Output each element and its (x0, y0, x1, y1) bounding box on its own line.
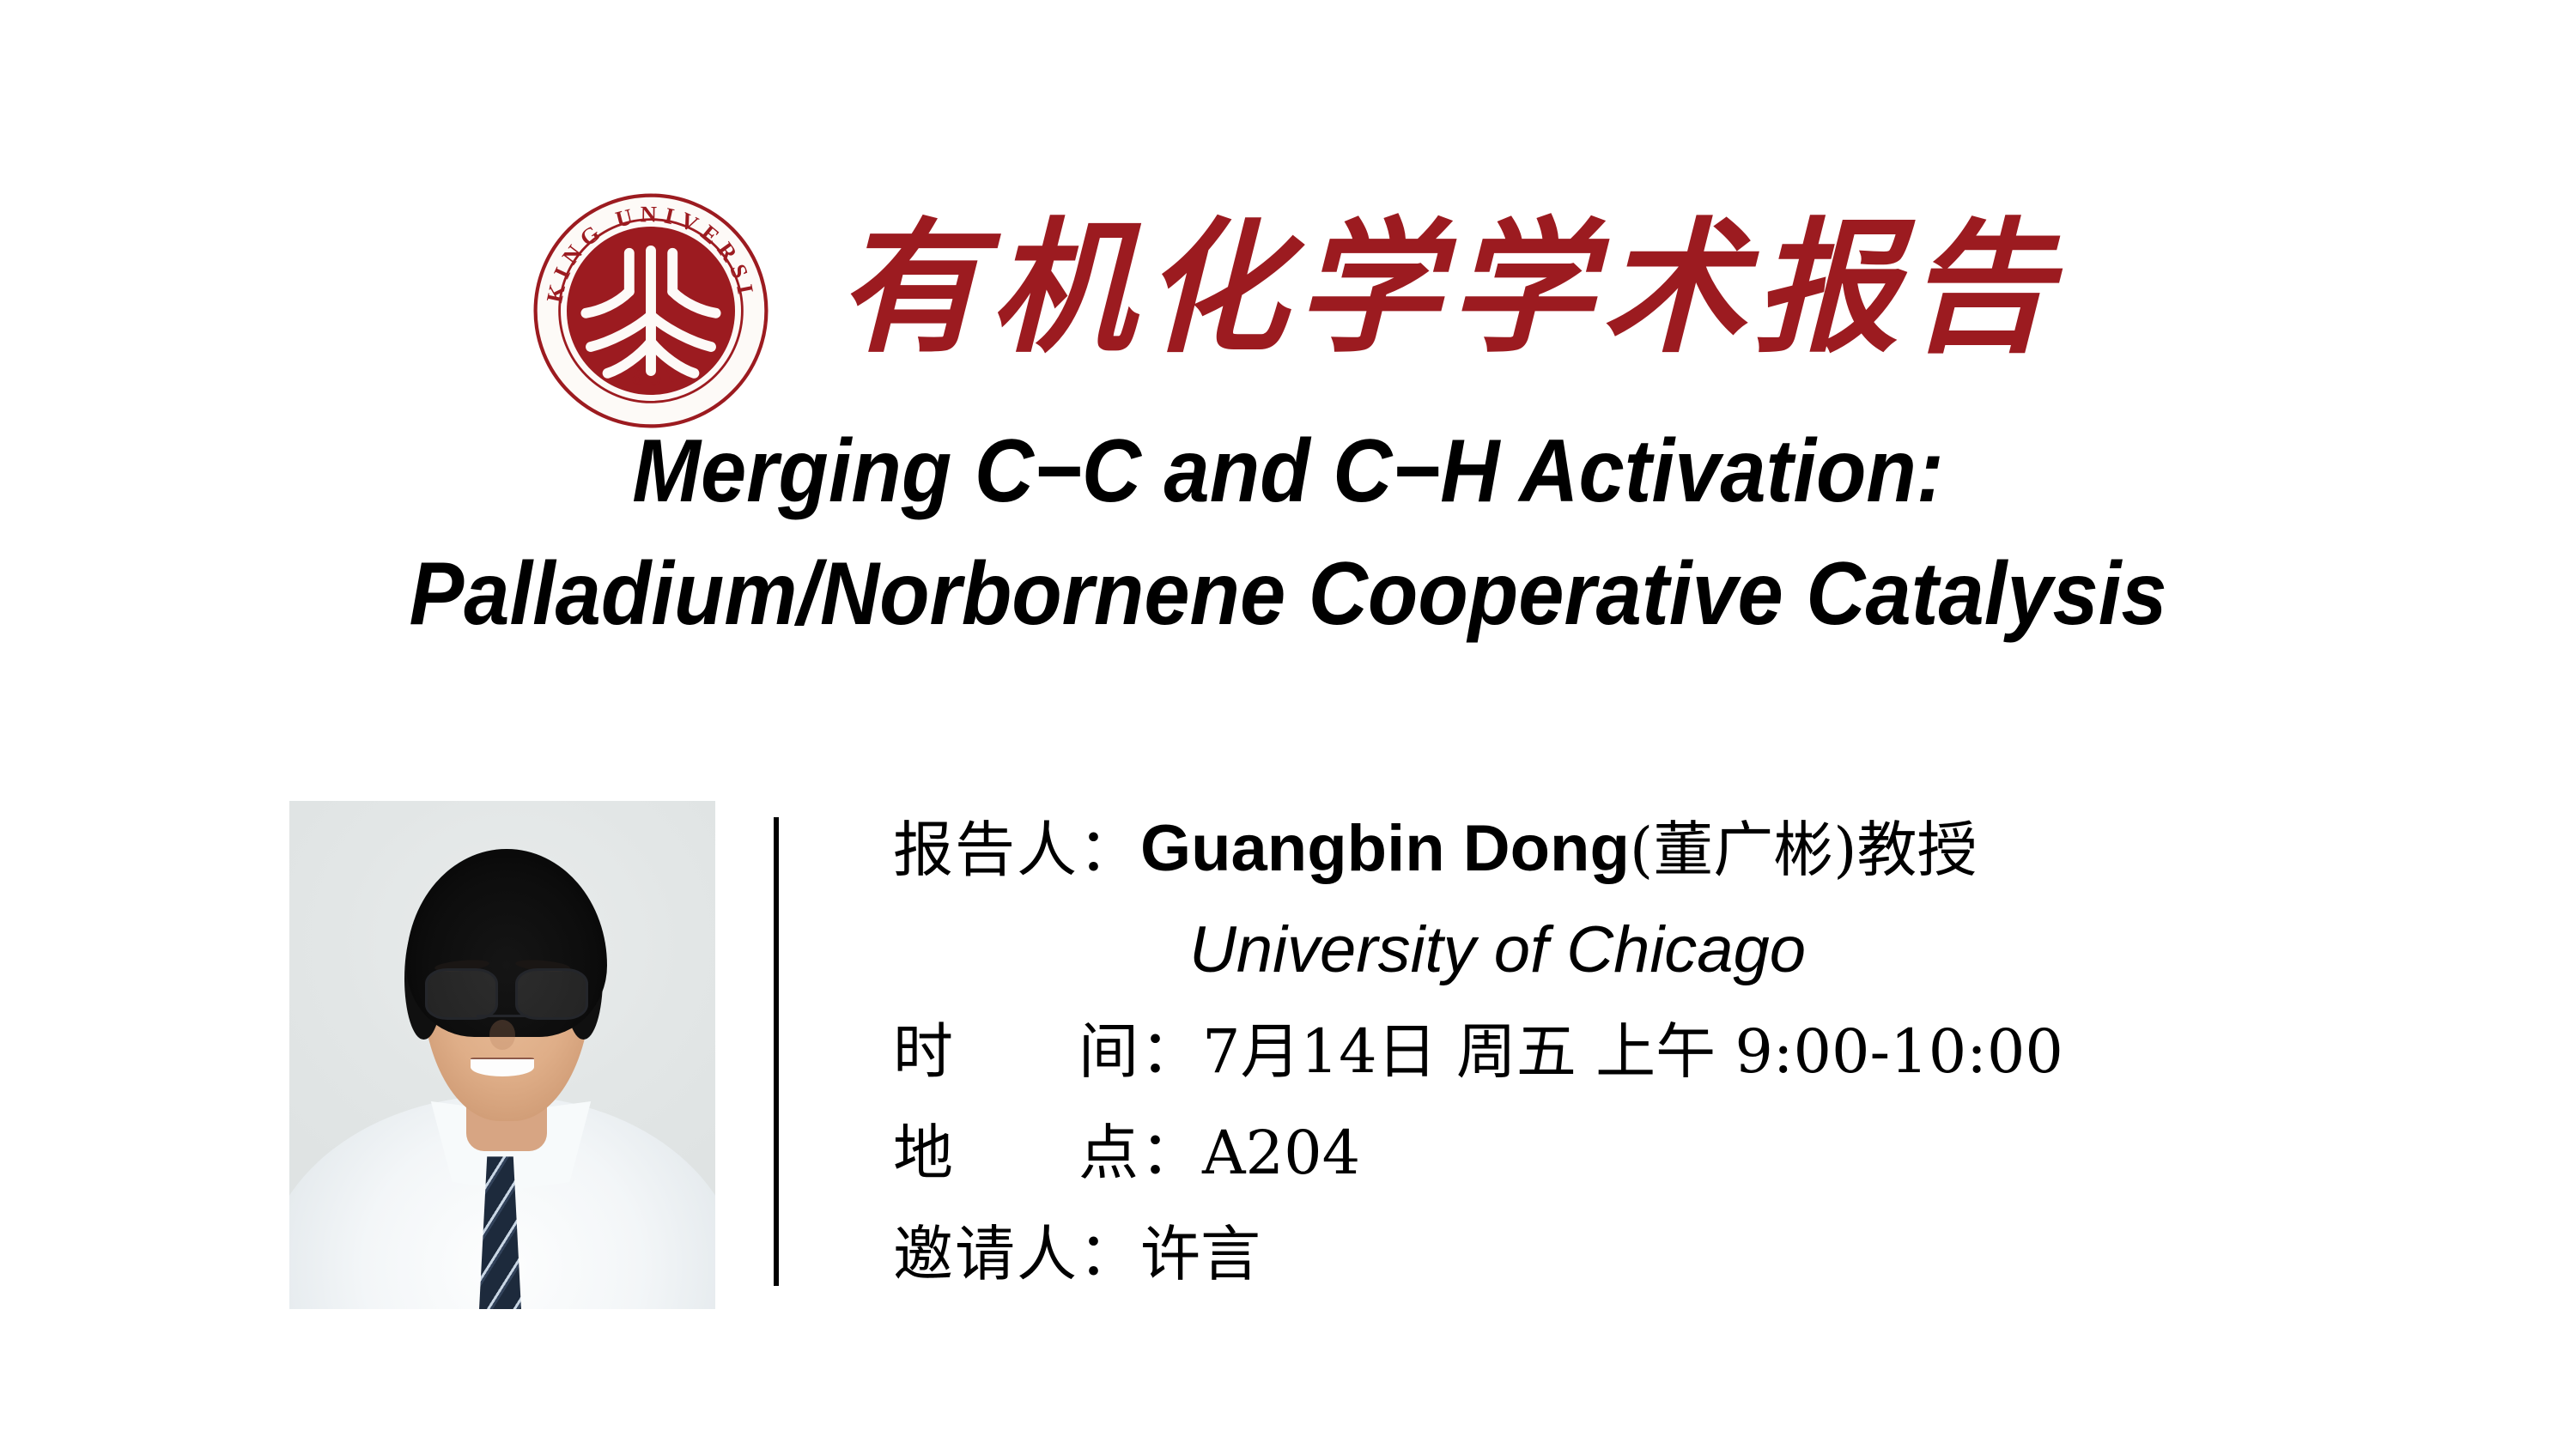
seminar-details: 报告人：Guangbin Dong(董广彬)教授 University of C… (893, 798, 2524, 1305)
speaker-honorific: 教授 (1857, 815, 1978, 885)
lecture-title-line-2: Palladium/Norbornene Cooperative Catalys… (103, 533, 2473, 656)
time-label: 时 间： (893, 1016, 1202, 1087)
portrait-lens-right (515, 968, 588, 1019)
peking-university-seal-icon: PEKING UNIVERSITY 1898 (531, 191, 771, 431)
venue-label: 地 点： (893, 1118, 1202, 1188)
vertical-divider (774, 817, 779, 1286)
detail-row-venue: 地 点：A204 (893, 1102, 2524, 1203)
speaker-name-cn: (董广彬) (1630, 815, 1857, 885)
portrait-glasses-bridge (477, 1015, 528, 1017)
seminar-poster: PEKING UNIVERSITY 1898 有机化学学术 (0, 0, 2576, 1449)
host-label: 邀请人： (893, 1219, 1140, 1289)
venue-value: A204 (1202, 1118, 1360, 1188)
speaker-portrait-photo (289, 801, 715, 1309)
speaker-name-en: Guangbin Dong (1140, 812, 1630, 885)
portrait-eyeglasses (422, 968, 592, 1014)
detail-row-speaker: 报告人：Guangbin Dong(董广彬)教授 (893, 798, 2524, 900)
time-value: 7月14日 周五 上午 9:00-10:00 (1202, 1016, 2063, 1087)
detail-row-time: 时 间：7月14日 周五 上午 9:00-10:00 (893, 1001, 2524, 1102)
detail-row-host: 邀请人：许言 (893, 1203, 2524, 1305)
portrait-nose (489, 1020, 515, 1051)
portrait-smile (471, 1058, 534, 1076)
poster-header: PEKING UNIVERSITY 1898 有机化学学术 (0, 86, 2576, 361)
lecture-title: Merging C−C and C−H Activation: Palladiu… (103, 410, 2473, 656)
lecture-title-line-1: Merging C−C and C−H Activation: (103, 410, 2473, 533)
speaker-label: 报告人： (893, 815, 1140, 885)
portrait-lens-left (425, 968, 498, 1019)
speaker-affiliation: University of Chicago (893, 900, 2524, 1001)
host-value: 许言 (1140, 1219, 1261, 1289)
poster-banner-title: 有机化学学术报告 (837, 189, 2125, 386)
